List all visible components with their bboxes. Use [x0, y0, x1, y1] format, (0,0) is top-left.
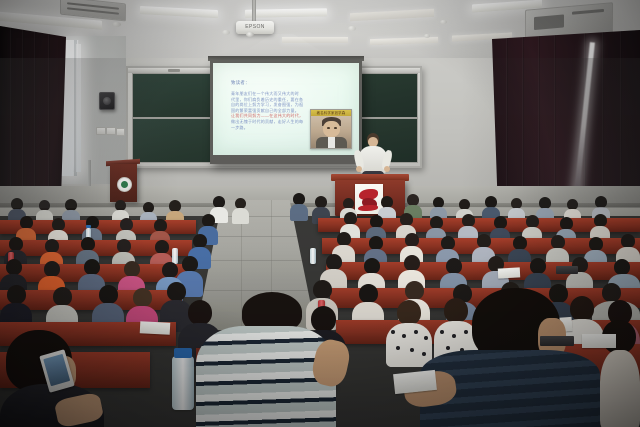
- bottle-cap: [174, 348, 192, 358]
- foreground-person-striped-polo: [196, 292, 336, 427]
- lecture-hall-photo: EPSON 致读者： 青年朋友们在一个伟大而又伟大的时 代里，你们肩负着历史的重…: [0, 0, 640, 427]
- laptop: [540, 336, 574, 346]
- foreground-person-dark-striped: [420, 288, 600, 427]
- notebook: [140, 321, 171, 335]
- water-bottle: [172, 356, 194, 410]
- notebook: [582, 334, 616, 348]
- bottle-cap: [86, 225, 91, 228]
- wall-shading: [0, 58, 640, 208]
- laptop: [556, 266, 578, 274]
- water-bottle: [310, 248, 316, 264]
- notebook: [498, 267, 520, 278]
